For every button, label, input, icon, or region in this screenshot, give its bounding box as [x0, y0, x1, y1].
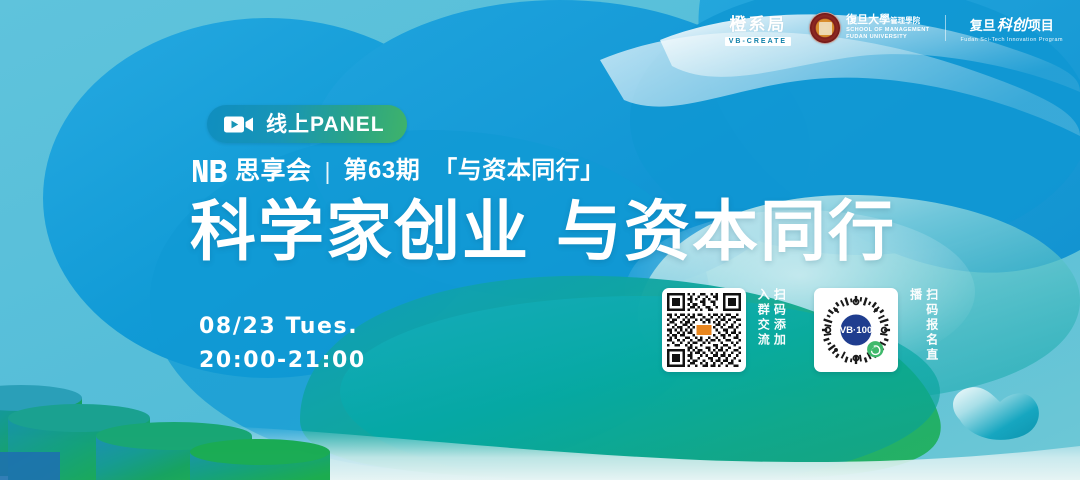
logo-vb-create[interactable]: 橙系局 VB-CREATE — [716, 6, 800, 50]
program-cn-part2: 科创 — [997, 14, 1027, 35]
series-theme: 「与资本同行」 — [433, 159, 605, 183]
program-cn-part1: 复旦 — [970, 15, 996, 34]
series-name: 思享会 — [235, 159, 312, 184]
wechat-group-qr-label: 扫码添加 入群交流 — [755, 288, 787, 372]
fudan-cn-sub: 管理學院 — [890, 16, 920, 25]
logo-divider — [945, 15, 946, 41]
headline-part2: 与资本同行 — [556, 194, 896, 268]
vb-create-en: VB-CREATE — [725, 37, 791, 46]
series-subtitle: 思享会 | 第63期 「与资本同行」 — [192, 158, 605, 184]
series-separator: | — [325, 160, 331, 183]
livestream-signup-qr-image: VB·100 — [819, 293, 893, 367]
online-panel-label: 线上PANEL — [266, 114, 385, 135]
fudan-en-line1: SCHOOL OF MANAGEMENT — [846, 28, 929, 34]
fudan-cn-main: 復旦大學 — [846, 14, 890, 26]
fudan-en-line2: FUDAN UNIVERSITY — [846, 35, 929, 41]
online-panel-badge[interactable]: 线上PANEL — [207, 105, 407, 143]
event-date: 08/23 Tues. — [199, 310, 366, 344]
logo-fudan-som[interactable]: 復旦大學管理學院 SCHOOL OF MANAGEMENT FUDAN UNIV… — [800, 6, 938, 50]
series-issue: 第63期 — [344, 159, 421, 183]
video-camera-icon — [224, 115, 254, 134]
poster-headline: 科学家创业与资本同行 — [190, 196, 896, 267]
wechat-group-qr[interactable] — [662, 288, 746, 372]
fudan-seal-icon — [809, 12, 841, 44]
qr-section: 扫码添加 入群交流 — [662, 288, 949, 372]
event-schedule: 08/23 Tues. 20:00-21:00 — [199, 310, 366, 378]
livestream-signup-qr-label: 扫码报名直播 — [907, 288, 939, 372]
fudan-cn-line: 復旦大學管理學院 — [846, 15, 929, 27]
headline-part1: 科学家创业 — [190, 194, 530, 268]
partner-logo-bar: 橙系局 VB-CREATE 復旦大學管理學院 SCHOOL OF MANAGEM… — [716, 6, 1072, 50]
qr-center-badge-text: VB·100 — [840, 325, 873, 336]
logo-fudan-program[interactable]: 复旦 科创 项目 Fudan Sci-Tech Innovation Progr… — [952, 6, 1073, 50]
livestream-signup-qr[interactable]: VB·100 — [814, 288, 898, 372]
program-en: Fudan Sci-Tech Innovation Program — [961, 37, 1064, 43]
vb-create-cn: 橙系局 — [729, 10, 786, 35]
wechat-group-qr-image — [667, 293, 741, 367]
event-time: 20:00-21:00 — [199, 344, 366, 378]
event-poster: 橙系局 VB-CREATE 復旦大學管理學院 SCHOOL OF MANAGEM… — [0, 0, 1080, 480]
program-cn-part3: 项目 — [1028, 15, 1054, 34]
vb-logo-icon — [192, 158, 228, 184]
